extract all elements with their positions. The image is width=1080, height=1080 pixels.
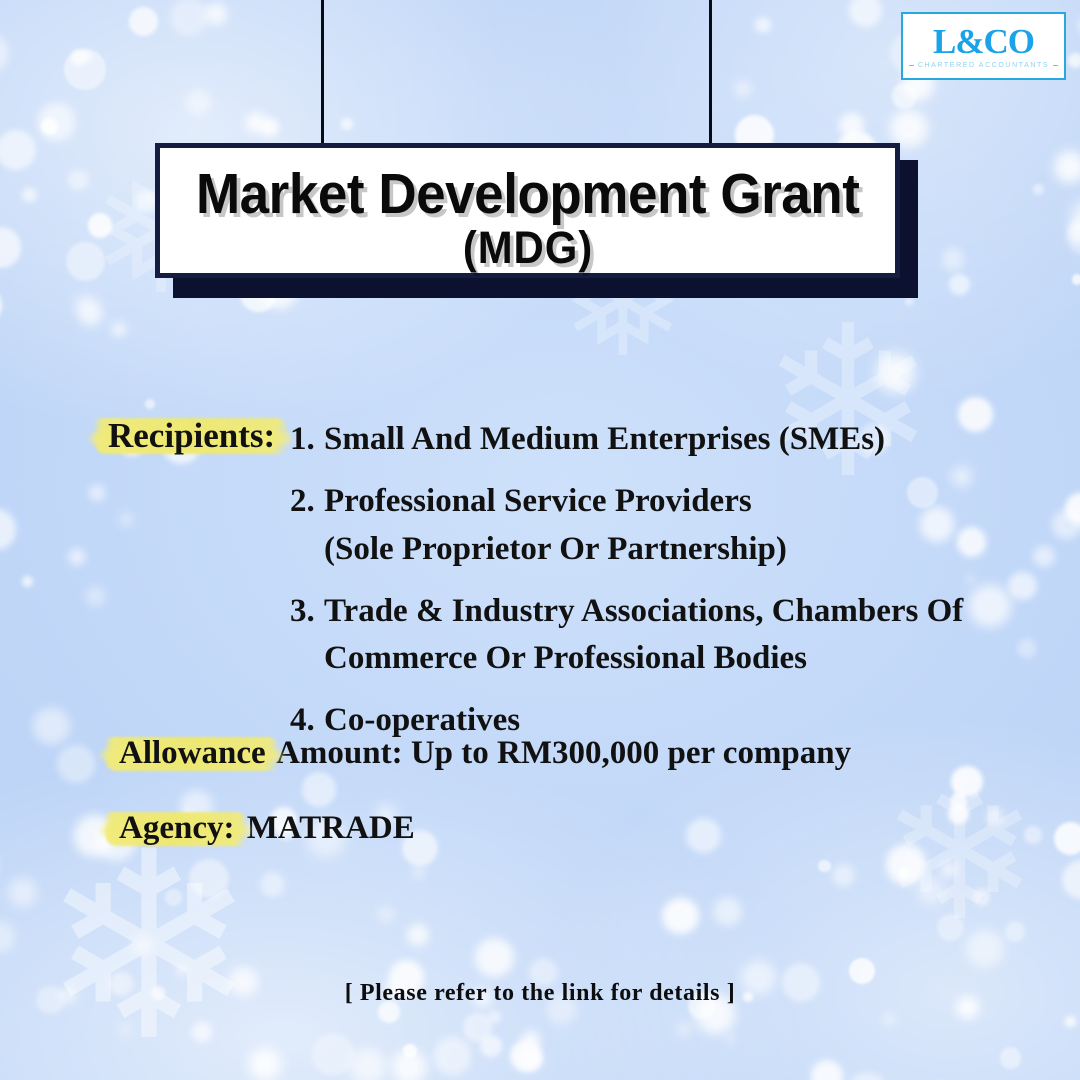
hanging-string-left [321, 0, 324, 160]
agency-keyword: Agency: [115, 810, 238, 847]
allowance-value: Amount: Up to RM300,000 per company [270, 735, 851, 771]
agency-value: MATRADE [238, 810, 414, 846]
page-title: Market Development Grant [196, 166, 859, 223]
logo-rule-right [1053, 65, 1057, 66]
poster-canvas: ❄ ❄ ❅ ❅ ❄ L&CO CHARTERED ACCOUNTANTS Mar… [0, 0, 1080, 1080]
recipient-number: 4. [290, 702, 324, 739]
agency-line: Agency: MATRADE [115, 810, 415, 847]
company-logo: L&CO CHARTERED ACCOUNTANTS [901, 12, 1066, 80]
page-subtitle: (MDG) [462, 225, 592, 270]
recipient-item: 3.Trade & Industry Associations, Chamber… [290, 588, 1030, 684]
recipients-list: 1.Small And Medium Enterprises (SMEs)2.P… [290, 416, 1030, 759]
recipient-text: Professional Service Providers(Sole Prop… [324, 478, 787, 574]
logo-rule-left [909, 65, 913, 66]
recipient-item: 1.Small And Medium Enterprises (SMEs) [290, 416, 1030, 464]
recipient-item: 2.Professional Service Providers(Sole Pr… [290, 478, 1030, 574]
allowance-keyword: Allowance [115, 735, 270, 772]
title-banner: Market Development Grant (MDG) [155, 143, 900, 278]
recipient-number: 1. [290, 421, 324, 458]
recipient-number: 3. [290, 593, 324, 630]
recipients-label: Recipients: [104, 416, 279, 456]
recipient-text: Small And Medium Enterprises (SMEs) [324, 416, 885, 464]
recipient-text: Trade & Industry Associations, Chambers … [324, 588, 963, 684]
hanging-string-right [709, 0, 712, 160]
logo-wordmark: L&CO [933, 25, 1034, 58]
footer-note: [ Please refer to the link for details ] [0, 980, 1080, 1007]
logo-tagline: CHARTERED ACCOUNTANTS [918, 62, 1049, 69]
logo-tagline-row: CHARTERED ACCOUNTANTS [909, 62, 1057, 69]
allowance-line: Allowance Amount: Up to RM300,000 per co… [115, 735, 851, 772]
recipients-label-text: Recipients: [104, 416, 279, 456]
recipient-number: 2. [290, 483, 324, 520]
